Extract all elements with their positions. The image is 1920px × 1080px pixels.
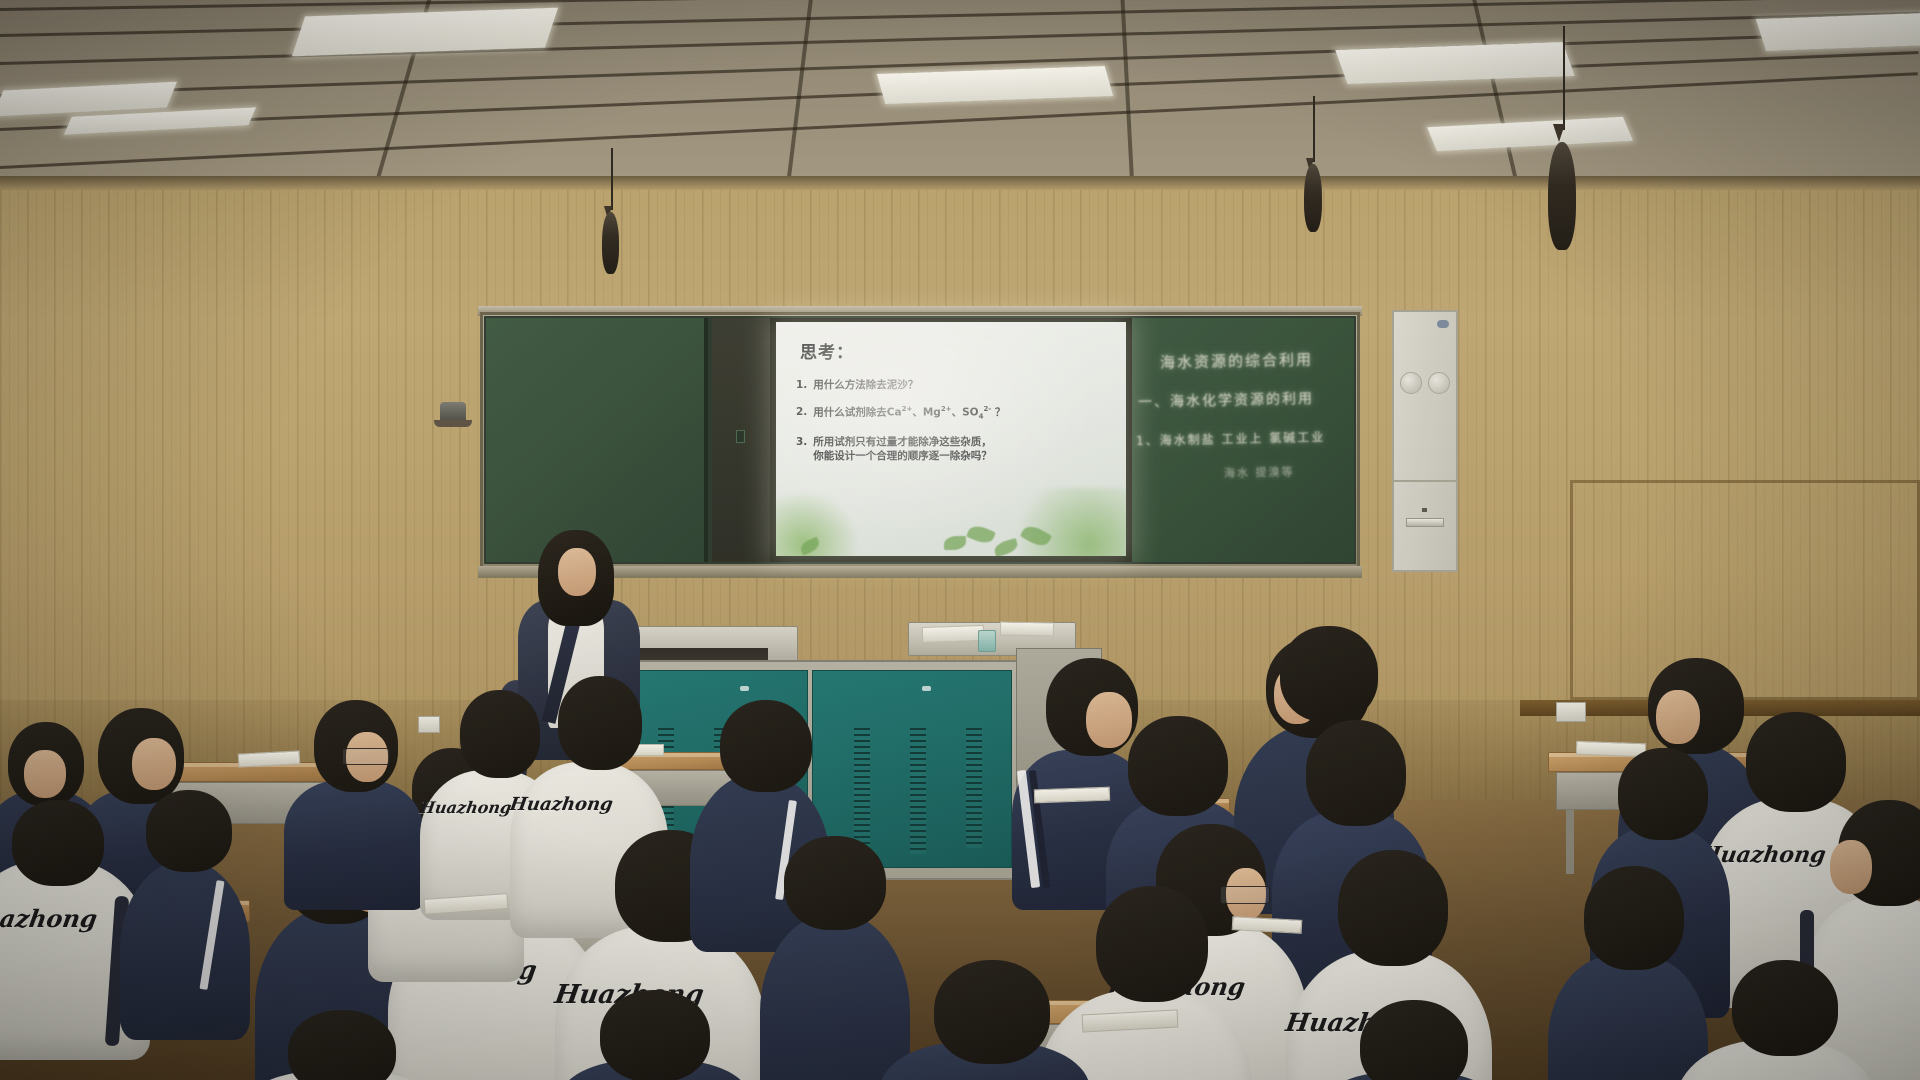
slide-item-text: 用什么试剂除去Ca2+、Mg2+、SO42- ？ (813, 405, 1114, 422)
indicator-dot-icon (1422, 508, 1427, 512)
podium-handle[interactable] (740, 686, 749, 691)
ceiling-light-panel (877, 66, 1113, 104)
vent-grille (910, 728, 926, 854)
wall-trim (0, 176, 1920, 190)
vent-grille (966, 728, 982, 848)
desk-leg (1566, 810, 1574, 874)
wall-camera-icon (440, 402, 466, 422)
cup-on-podium[interactable] (978, 630, 996, 652)
slide-item-line1: 所用试剂只有过量才能除净这些杂质， (813, 436, 992, 448)
status-led-icon (1437, 320, 1449, 328)
classroom-scene: 海水资源的综合利用 一、海水化学资源的利用 1、海水制盐 工业上 氯碱工业 海水… (0, 0, 1920, 1080)
slide-item-number: 3. (796, 435, 807, 463)
slide-item: 3. 所用试剂只有过量才能除净这些杂质，你能设计一个合理的顺序逐一除杂吗？ (796, 435, 1114, 463)
slide-item: 1. 用什么方法除去泥沙？ (796, 378, 1114, 392)
hanging-microphone (602, 212, 619, 274)
chalkboard-right-panel[interactable]: 海水资源的综合利用 一、海水化学资源的利用 1、海水制盐 工业上 氯碱工业 海水… (1128, 318, 1354, 562)
slide-item-line2: 你能设计一个合理的顺序逐一除杂吗？ (813, 450, 992, 462)
ceiling-light-panel (0, 82, 177, 117)
slide-question-list: 1. 用什么方法除去泥沙？ 2. 用什么试剂除去Ca2+、Mg2+、SO42- … (796, 378, 1114, 476)
chalk-line-4: 海水 提溴等 (1224, 463, 1295, 480)
control-knob[interactable] (1428, 372, 1450, 394)
leaf-icon (944, 536, 966, 550)
chalkboard-left-panel[interactable] (486, 318, 708, 562)
slide-item-number: 1. (796, 378, 807, 392)
microphone-cone (1553, 124, 1565, 142)
hanging-microphone (1548, 142, 1576, 250)
microphone-cable (611, 148, 613, 210)
microphone-cable (1563, 26, 1565, 130)
wall-socket[interactable] (1556, 702, 1586, 722)
ceiling-light-panel (64, 107, 256, 134)
blackboard-latch[interactable] (736, 430, 745, 443)
book-on-desk (1576, 741, 1646, 757)
slide-item-text: 所用试剂只有过量才能除净这些杂质，你能设计一个合理的顺序逐一除杂吗？ (813, 435, 1114, 463)
ceiling (0, 0, 1920, 182)
ceiling-light-panel (1756, 13, 1920, 51)
hanging-microphone (1304, 164, 1322, 232)
papers-on-podium (922, 625, 985, 643)
wall-control-unit[interactable] (1392, 310, 1458, 572)
projection-screen[interactable]: 思考： 1. 用什么方法除去泥沙？ 2. 用什么试剂除去Ca2+、Mg2+、SO… (776, 322, 1126, 556)
vent-grille (854, 728, 870, 854)
control-slot[interactable] (1406, 518, 1444, 527)
microphone-cable (1313, 96, 1315, 162)
ceiling-light-panel (1427, 117, 1633, 151)
wall-socket[interactable] (418, 716, 440, 733)
slide-item: 2. 用什么试剂除去Ca2+、Mg2+、SO42- ？ (796, 405, 1114, 422)
chalk-line-3: 1、海水制盐 工业上 氯碱工业 (1136, 428, 1326, 449)
wall-panel (1570, 480, 1920, 700)
slide-title: 思考： (800, 338, 854, 363)
papers-on-podium (1000, 622, 1054, 637)
chalk-line-1: 海水资源的综合利用 (1160, 348, 1313, 372)
podium-handle[interactable] (922, 686, 931, 691)
teacher-face (558, 548, 596, 596)
slide-item-text: 用什么方法除去泥沙？ (813, 378, 1114, 392)
eyeglasses-icon (342, 748, 390, 765)
chalk-line-2: 一、海水化学资源的利用 (1138, 388, 1314, 412)
slide-item-number: 2. (796, 405, 807, 422)
book-on-desk (1034, 787, 1110, 804)
control-knob[interactable] (1400, 372, 1422, 394)
wall-camera-base (434, 420, 472, 427)
ceiling-light-panel (1335, 42, 1574, 84)
slide-leaf-decoration-left (776, 494, 880, 556)
eyeglasses-icon (1220, 886, 1270, 904)
